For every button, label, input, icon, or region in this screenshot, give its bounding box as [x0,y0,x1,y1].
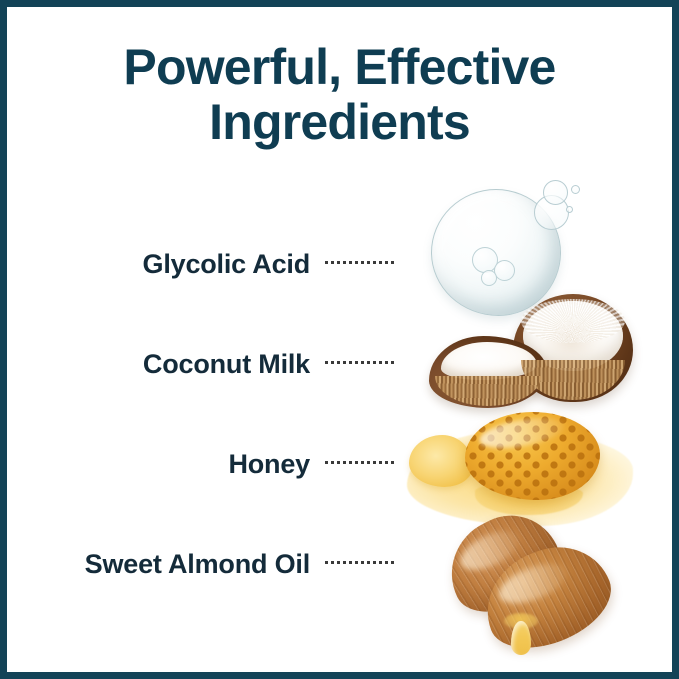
infographic-canvas: Powerful, Effective Ingredients Glycolic… [7,7,672,672]
honeycomb-shape [465,412,600,500]
honey-splash-blob [409,435,473,487]
dotted-leader-icon [325,361,397,365]
ingredient-label-sweet-almond-oil: Sweet Almond Oil [85,547,310,581]
page-title: Powerful, Effective Ingredients [7,40,672,150]
ingredient-label-coconut-milk: Coconut Milk [143,347,310,381]
ingredients-infographic: Powerful, Effective Ingredients Glycolic… [0,0,679,679]
ingredient-imagery-column [407,179,662,669]
dotted-leader-icon [325,261,397,265]
ingredient-label-glycolic-acid: Glycolic Acid [143,247,310,281]
oil-droplet-icon [503,621,539,661]
almonds-with-oil-image [437,517,632,667]
dotted-leader-icon [325,461,397,465]
dotted-leader-icon [325,561,397,565]
ingredient-label-honey: Honey [228,447,310,481]
floating-bubble-icon [571,185,580,194]
floating-bubble-icon [566,206,573,213]
gel-inner-bubble-icon [481,270,497,286]
coconut-halves-image [429,294,641,416]
floating-bubble-icon [543,180,568,205]
gel-inner-bubble-icon [494,260,515,281]
coconut-flesh-rim [521,299,625,343]
